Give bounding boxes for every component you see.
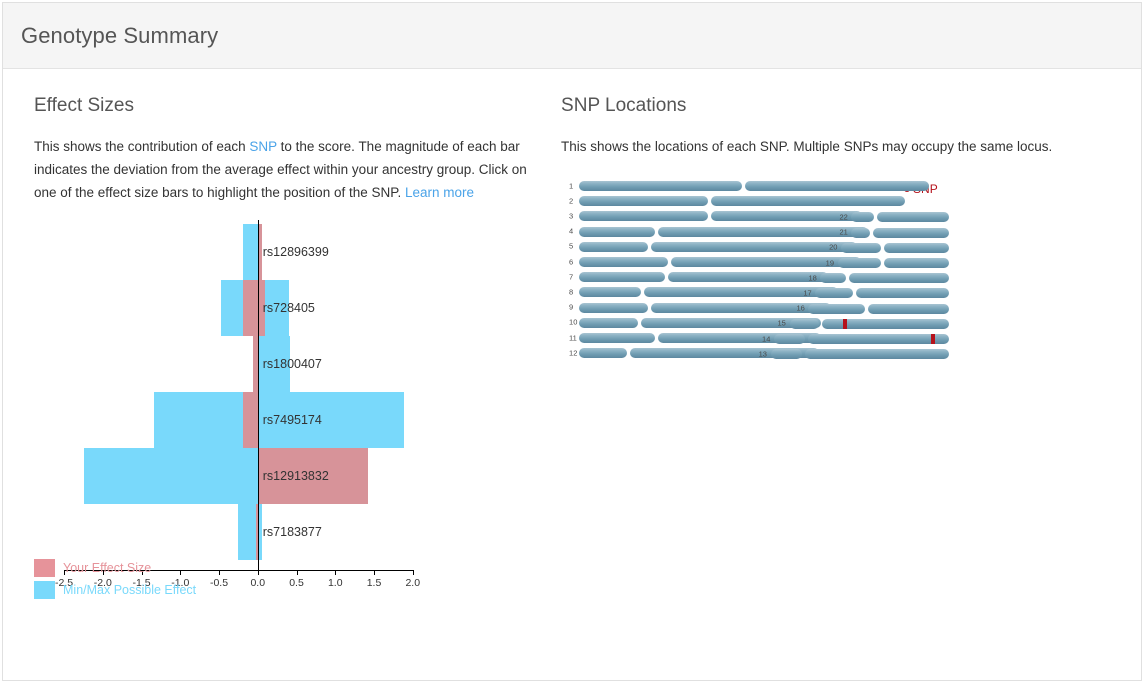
chromosome-row: 21 (563, 227, 963, 238)
bar-label: rs7183877 (263, 525, 322, 539)
chromosome-row: 20 (563, 242, 963, 253)
snp-marker[interactable] (931, 334, 935, 344)
axis-tick-label: 0.0 (250, 577, 265, 589)
chromosome-q-arm (822, 319, 949, 329)
chromosome-row: 1 (563, 180, 963, 191)
chromosome-label: 19 (826, 258, 834, 267)
chromosome-q-arm (808, 334, 949, 344)
effect-sizes-title: Effect Sizes (34, 95, 558, 117)
your-effect-bar[interactable] (258, 448, 368, 504)
chromosome-label: 14 (762, 334, 770, 343)
chromosome-p-arm (579, 196, 708, 206)
chromosome-p-arm (579, 181, 742, 191)
chromosome-q-arm (805, 349, 949, 359)
chromosome-label: 21 (839, 228, 847, 237)
axis-tick (297, 570, 298, 575)
chromosome-label: 1 (569, 181, 573, 190)
chromosome-label: 20 (829, 243, 837, 252)
chromosome-row: 16 (563, 303, 963, 314)
axis-tick (335, 570, 336, 575)
chromosome-q-arm (884, 258, 949, 268)
axis-tick-label: 0.5 (289, 577, 304, 589)
chromosome-p-arm (851, 228, 870, 238)
legend-label: Your Effect Size (63, 561, 151, 575)
effect-size-bar-row[interactable]: rs12913832 (34, 448, 554, 504)
legend-swatch (34, 581, 55, 599)
learn-more-link[interactable]: Learn more (405, 185, 474, 200)
chromosome-label: 13 (759, 349, 767, 358)
genotype-summary-card: Genotype Summary Effect Sizes This shows… (2, 2, 1142, 681)
chromosome-q-arm (849, 273, 949, 283)
axis-tick-label: 2.0 (405, 577, 420, 589)
effect-size-bar-row[interactable]: rs1800407 (34, 336, 554, 392)
zero-axis-line (258, 220, 259, 570)
chromosome-p-arm (841, 243, 881, 253)
chromosome-row: 18 (563, 272, 963, 283)
chromosome-row: 22 (563, 211, 963, 222)
chromosome-q-arm (884, 243, 949, 253)
desc-text-1: This shows the contribution of each (34, 139, 249, 154)
chromosome-ideogram: SNP 12345678910111222212019181716151413 (563, 180, 963, 380)
snp-link[interactable]: SNP (249, 139, 277, 154)
chromosome-q-arm (745, 181, 929, 191)
legend-swatch (34, 559, 55, 577)
chromosome-p-arm (815, 288, 853, 298)
effect-size-bar-row[interactable]: rs7183877 (34, 504, 554, 560)
chart-plot-area: rs12896399rs728405rs1800407rs7495174rs12… (34, 220, 554, 550)
chromosome-row: 15 (563, 318, 963, 329)
chromosome-p-arm (771, 349, 802, 359)
page-title: Genotype Summary (21, 23, 218, 49)
effect-sizes-chart: rs12896399rs728405rs1800407rs7495174rs12… (34, 220, 554, 600)
axis-tick (374, 570, 375, 575)
card-body: Effect Sizes This shows the contribution… (3, 69, 1141, 600)
chromosome-q-arm (868, 304, 949, 314)
effect-size-bar-row[interactable]: rs728405 (34, 280, 554, 336)
chromosome-p-arm (820, 273, 846, 283)
chromosome-q-arm (873, 228, 949, 238)
chart-legend: Your Effect SizeMin/Max Possible Effect (34, 558, 196, 602)
chromosome-row: 13 (563, 348, 963, 359)
axis-tick (258, 570, 259, 575)
effect-size-bar-row[interactable]: rs12896399 (34, 224, 554, 280)
axis-tick-label: 1.0 (328, 577, 343, 589)
chromosome-q-arm (711, 196, 905, 206)
legend-item: Your Effect Size (34, 558, 196, 578)
chromosome-q-arm (877, 212, 949, 222)
snp-locations-description: This shows the locations of each SNP. Mu… (561, 135, 1061, 158)
axis-tick-label: 1.5 (367, 577, 382, 589)
minmax-effect-bar[interactable] (154, 392, 404, 448)
chromosome-p-arm (808, 304, 865, 314)
chromosome-label: 22 (839, 212, 847, 221)
effect-size-bar-row[interactable]: rs7495174 (34, 392, 554, 448)
chromosome-row: 17 (563, 287, 963, 298)
chromosome-label: 17 (803, 288, 811, 297)
your-effect-bar[interactable] (243, 280, 265, 336)
chromosome-p-arm (790, 319, 819, 329)
chromosome-row: 19 (563, 257, 963, 268)
chromosome-p-arm (851, 212, 873, 222)
legend-item: Min/Max Possible Effect (34, 580, 196, 600)
snp-marker[interactable] (843, 319, 847, 329)
chromosome-label: 16 (796, 304, 804, 313)
axis-tick (413, 570, 414, 575)
snp-locations-panel: SNP Locations This shows the locations o… (558, 69, 1141, 600)
legend-label: Min/Max Possible Effect (63, 583, 196, 597)
axis-tick-label: -0.5 (210, 577, 228, 589)
chromosome-label: 15 (778, 319, 786, 328)
chromosome-row: 14 (563, 333, 963, 344)
effect-sizes-panel: Effect Sizes This shows the contribution… (3, 69, 558, 600)
bar-label: rs12896399 (263, 245, 329, 259)
card-header: Genotype Summary (3, 3, 1141, 69)
your-effect-bar[interactable] (243, 392, 258, 448)
effect-sizes-description: This shows the contribution of each SNP … (34, 135, 534, 204)
chromosome-p-arm (774, 334, 805, 344)
chromosome-row: 2 (563, 195, 963, 206)
chromosome-label: 2 (569, 196, 573, 205)
axis-tick (219, 570, 220, 575)
chromosome-q-arm (856, 288, 949, 298)
chromosome-label: 18 (808, 273, 816, 282)
chromosome-p-arm (838, 258, 881, 268)
snp-locations-title: SNP Locations (561, 95, 1141, 117)
